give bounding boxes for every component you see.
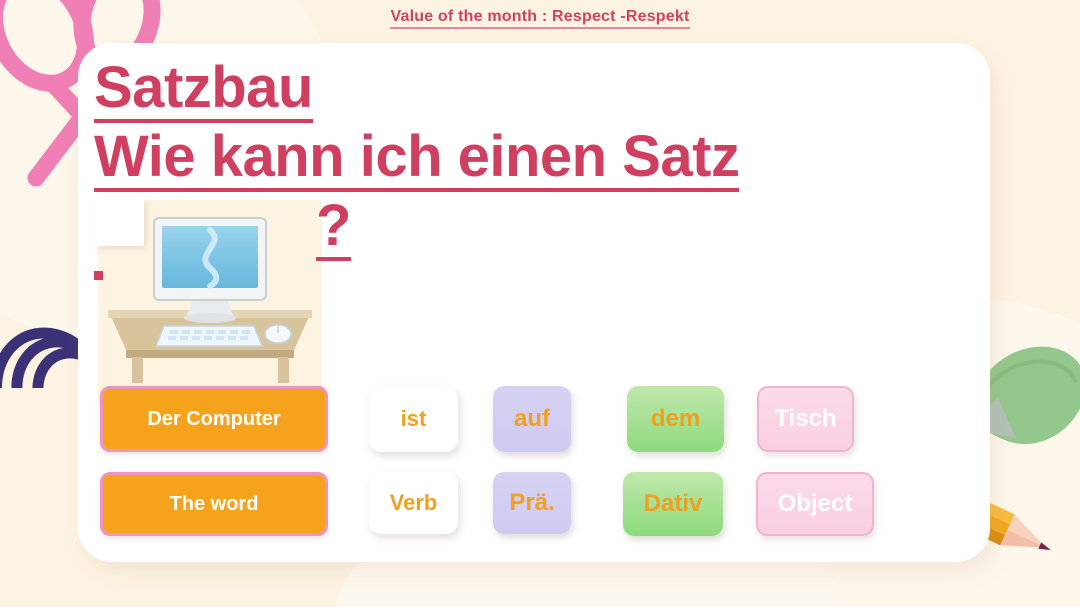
card-label: auf	[514, 405, 550, 433]
card-prae[interactable]: Prä.	[493, 472, 571, 534]
card-dativ[interactable]: Dativ	[623, 472, 723, 536]
card-object[interactable]: Object	[756, 472, 874, 536]
sentence-row: Der Computer ist auf dem Tisch	[100, 386, 970, 452]
card-der-computer[interactable]: Der Computer	[100, 386, 328, 452]
card-label: Der Computer	[147, 408, 280, 431]
title-line-1: Satzbau	[94, 59, 954, 123]
card-label: dem	[651, 405, 700, 433]
card-label: The word	[170, 493, 259, 516]
title-line-2-text: Wie kann ich einen Satz	[94, 128, 739, 192]
title-line-2: Wie kann ich einen Satz	[94, 128, 954, 192]
value-of-the-month-banner: Value of the month : Respect -Respekt	[0, 8, 1080, 29]
sentence-builder-cards: Der Computer ist auf dem Tisch The word …	[100, 386, 970, 536]
card-label: Object	[778, 490, 853, 518]
card-label: Dativ	[644, 490, 703, 518]
card-ist[interactable]: ist	[369, 386, 458, 452]
title-period-mark	[94, 271, 103, 280]
title-line-1-text: Satzbau	[94, 59, 313, 123]
card-verb[interactable]: Verb	[369, 472, 458, 534]
page-title: Satzbau Wie kann ich einen Satz ?	[94, 59, 954, 261]
title-line-3-text: ?	[316, 197, 351, 261]
word-type-row: The word Verb Prä. Dativ Object	[100, 472, 970, 536]
slide-panel: Satzbau Wie kann ich einen Satz ?	[78, 43, 990, 562]
banner-text: Value of the month : Respect -Respekt	[390, 8, 689, 29]
white-patch	[94, 198, 144, 246]
card-label: Prä.	[509, 489, 554, 517]
card-label: ist	[401, 406, 427, 432]
card-the-word[interactable]: The word	[100, 472, 328, 536]
card-tisch[interactable]: Tisch	[757, 386, 854, 452]
card-dem[interactable]: dem	[627, 386, 724, 452]
card-label: Tisch	[774, 405, 836, 433]
title-line-3: ?	[94, 197, 954, 261]
card-label: Verb	[390, 490, 438, 516]
card-auf[interactable]: auf	[493, 386, 571, 452]
